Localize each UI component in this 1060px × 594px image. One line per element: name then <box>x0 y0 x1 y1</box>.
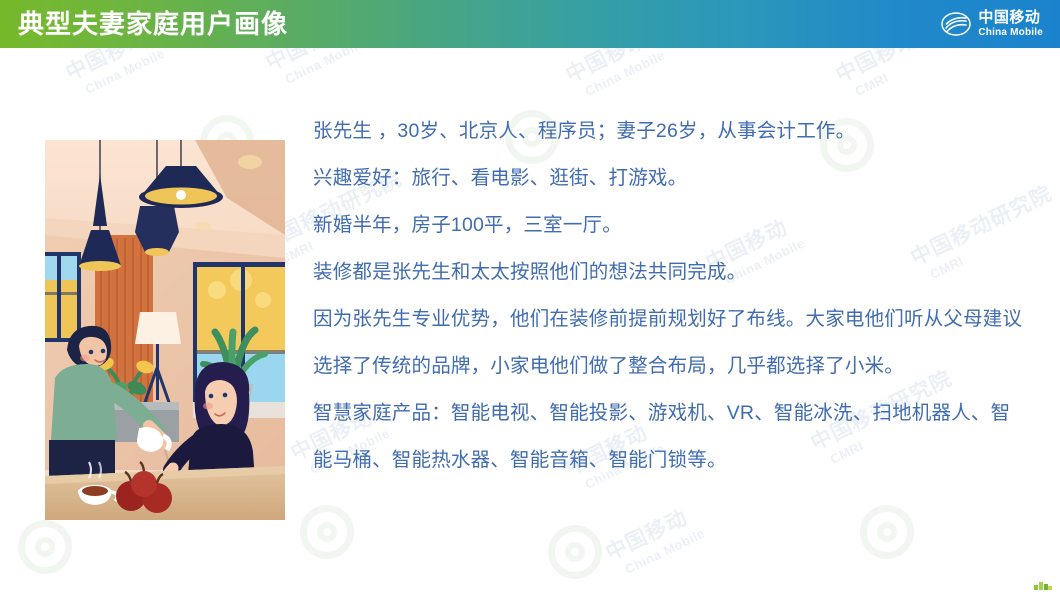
slide-canvas: 中国移动 China Mobile 中国移动 China Mobile 中国移动… <box>0 0 1060 594</box>
brand-name-en: China Mobile <box>978 28 1043 38</box>
corner-mark-icon <box>1034 578 1052 590</box>
profile-paragraph: 新婚半年，房子100平，三室一厅。 <box>313 202 1025 249</box>
slide-header-bar: 典型夫妻家庭用户画像 中国移动 China Mobile <box>0 0 1060 48</box>
profile-paragraph: 兴趣爱好：旅行、看电影、逛街、打游戏。 <box>313 155 1025 202</box>
couple-home-illustration <box>45 140 285 520</box>
profile-paragraph: 因为张先生专业优势，他们在装修前提前规划好了布线。大家电他们听从父母建议选择了传… <box>313 296 1025 390</box>
profile-paragraph: 张先生 ，30岁、北京人、程序员；妻子26岁，从事会计工作。 <box>313 108 1025 155</box>
china-mobile-wave-icon <box>941 9 971 39</box>
brand-text: 中国移动 China Mobile <box>978 10 1043 38</box>
china-mobile-logo: 中国移动 China Mobile <box>941 9 1043 39</box>
brand-name-cn: 中国移动 <box>978 10 1043 25</box>
illustration-svg <box>45 140 285 520</box>
profile-text-block: 张先生 ，30岁、北京人、程序员；妻子26岁，从事会计工作。 兴趣爱好：旅行、看… <box>313 108 1025 484</box>
profile-paragraph: 装修都是张先生和太太按照他们的想法共同完成。 <box>313 249 1025 296</box>
slide-content: 张先生 ，30岁、北京人、程序员；妻子26岁，从事会计工作。 兴趣爱好：旅行、看… <box>0 48 1060 594</box>
page-title: 典型夫妻家庭用户画像 <box>18 7 288 41</box>
profile-paragraph: 智慧家庭产品：智能电视、智能投影、游戏机、VR、智能冰洗、扫地机器人、智能马桶、… <box>313 390 1025 484</box>
